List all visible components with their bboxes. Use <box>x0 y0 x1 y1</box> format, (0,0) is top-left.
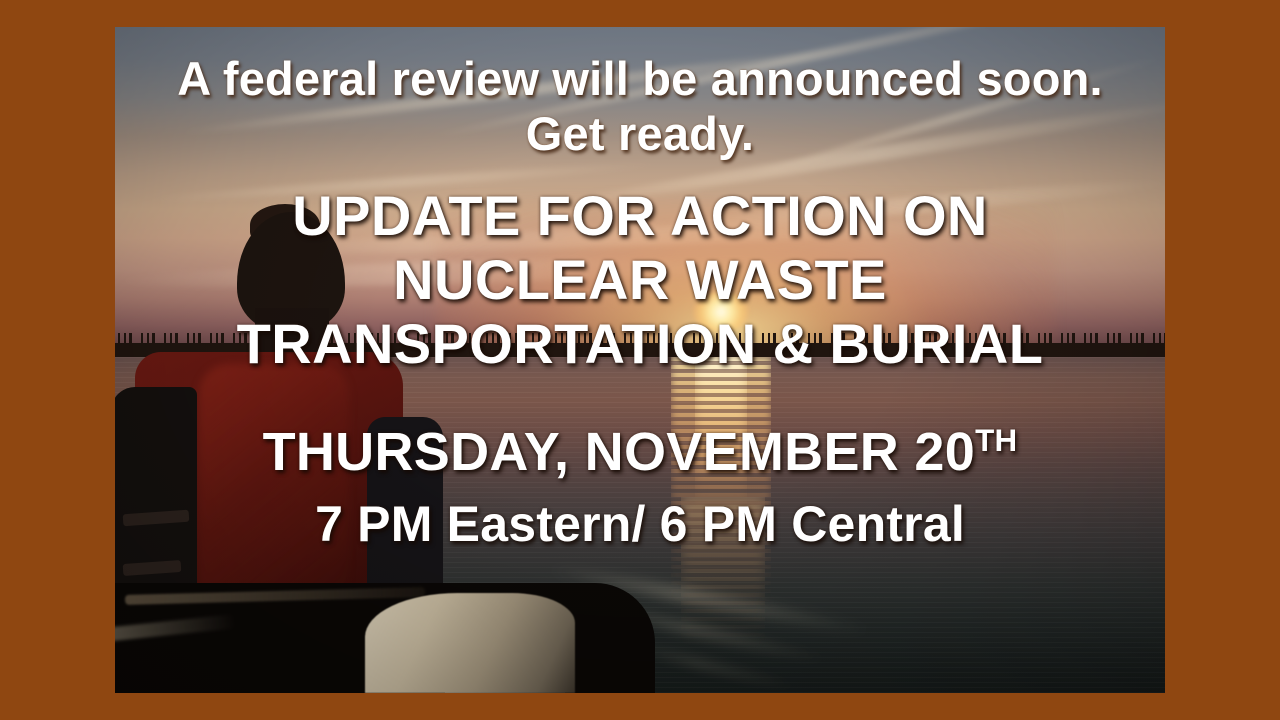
slide-canvas: A federal review will be announced soon.… <box>0 0 1280 720</box>
canoe-gunwale <box>365 593 575 693</box>
canoe <box>115 563 1165 693</box>
photo-frame: A federal review will be announced soon.… <box>115 27 1165 693</box>
sun-reflection-core <box>695 357 747 507</box>
sunset-lake-photo <box>115 27 1165 693</box>
sun-icon <box>693 292 749 332</box>
